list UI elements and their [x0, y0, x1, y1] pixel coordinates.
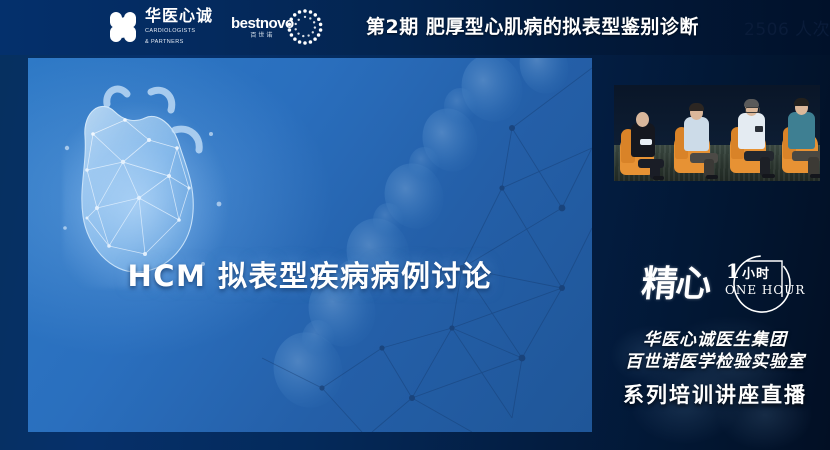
viewer-count-badge: 2506 人次	[744, 15, 830, 40]
logo-group: 华医心诚 CARDIOLOGISTS & PARTNERS bestnovo 百…	[108, 8, 324, 47]
video-participant-3	[724, 99, 780, 179]
brand-line-3: 系列培训讲座直播	[600, 379, 830, 409]
one-hour-logo: 精心 1 小时 ONE HOUR	[642, 253, 807, 315]
presentation-slide[interactable]: HCM 拟表型疾病病例讨论	[28, 58, 592, 432]
brand-line-2: 百世诺医学检验实验室	[600, 347, 830, 372]
partner-logo[interactable]: bestnovo 百世诺	[231, 8, 324, 46]
video-participant-2	[670, 101, 724, 179]
slide-title: HCM 拟表型疾病病例讨论	[28, 253, 592, 295]
partner-logo-text: bestnovo 百世诺	[231, 16, 294, 39]
video-participant-4	[780, 99, 820, 179]
organization-name-en-line2: & PARTNERS	[145, 38, 213, 46]
one-hour-cn: 小时	[742, 263, 770, 282]
brand-block: 精心 1 小时 ONE HOUR 华医心诚医生集团 百世诺医学检验实验室 系列培…	[600, 235, 830, 450]
organization-name-en-line1: CARDIOLOGISTS	[145, 27, 213, 35]
partner-name-en: bestnovo	[231, 16, 294, 31]
video-participant-1	[620, 105, 672, 179]
panel-discussion-video[interactable]	[614, 85, 820, 181]
livestream-stage: 华医心诚 CARDIOLOGISTS & PARTNERS bestnovo 百…	[0, 0, 830, 450]
dotted-ring-icon	[286, 8, 324, 46]
network-lines-graphic	[262, 58, 592, 432]
clover-cross-logo-icon	[108, 12, 138, 42]
partner-name-cn: 百世诺	[231, 33, 294, 39]
one-hour-number: 1	[726, 259, 740, 283]
organization-logo-text: 华医心诚 CARDIOLOGISTS & PARTNERS	[145, 8, 213, 47]
one-hour-lockup: 1 小时 ONE HOUR	[720, 259, 806, 313]
header-bar: 华医心诚 CARDIOLOGISTS & PARTNERS bestnovo 百…	[0, 0, 830, 55]
one-hour-logo-cn: 精心	[639, 255, 712, 307]
one-hour-en: ONE HOUR	[725, 283, 805, 297]
organization-name-cn: 华医心诚	[145, 8, 213, 24]
organization-logo[interactable]: 华医心诚 CARDIOLOGISTS & PARTNERS	[108, 8, 213, 47]
broadcast-title: 第2期 肥厚型心肌病的拟表型鉴别诊断	[366, 12, 699, 39]
